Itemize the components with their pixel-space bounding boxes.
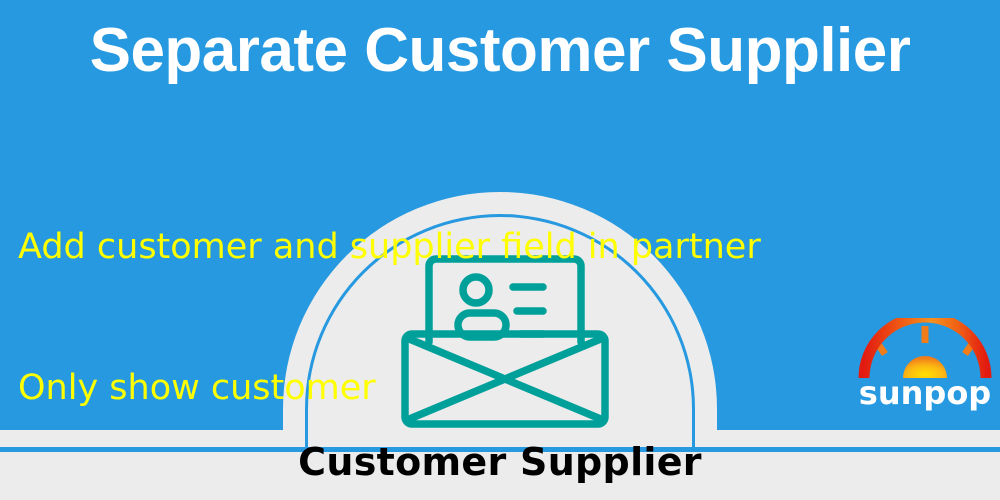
promo-banner: Separate Customer Supplier Add customer … bbox=[0, 0, 1000, 500]
icon-caption: Customer Supplier bbox=[0, 440, 1000, 484]
sunpop-sun-mark bbox=[855, 318, 995, 378]
feature-list-item: Add customer and supplier field in partn… bbox=[18, 224, 761, 271]
page-title: Separate Customer Supplier bbox=[0, 18, 1000, 83]
sunpop-logo-text: sunpop bbox=[855, 376, 995, 410]
sunpop-logo: sunpop bbox=[855, 318, 995, 420]
feature-list-item: Only show customer bbox=[18, 365, 761, 412]
